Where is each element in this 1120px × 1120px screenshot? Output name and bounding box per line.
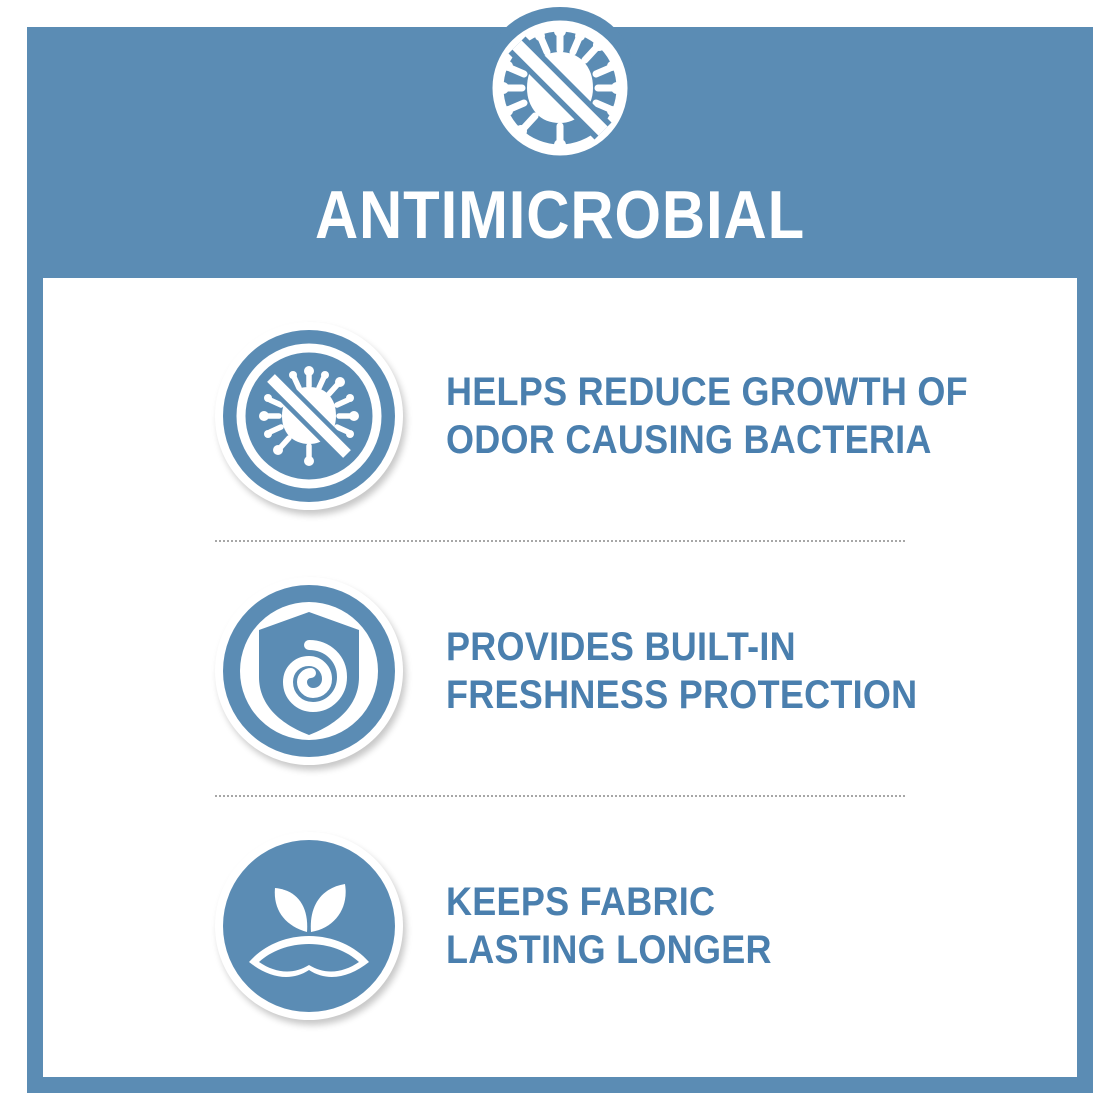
- feature-line: FRESHNESS PROTECTION: [446, 671, 1014, 719]
- antimicrobial-infographic: ANTIMICROBIAL: [0, 0, 1120, 1120]
- no-bacteria-icon: [488, 16, 632, 160]
- feature-text: KEEPS FABRIC LASTING LONGER: [446, 878, 1014, 974]
- feature-line: HELPS REDUCE GROWTH OF: [446, 368, 1014, 416]
- feature-line: PROVIDES BUILT-IN: [446, 623, 1014, 671]
- feature-line: ODOR CAUSING BACTERIA: [446, 416, 1014, 464]
- no-bacteria-badge-icon: [215, 322, 403, 510]
- leaf-sprout-badge-icon: [215, 832, 403, 1020]
- list-item: KEEPS FABRIC LASTING LONGER: [43, 818, 1077, 1033]
- feature-list: HELPS REDUCE GROWTH OF ODOR CAUSING BACT…: [43, 278, 1077, 1077]
- row-divider: [215, 540, 905, 542]
- row-divider: [215, 795, 905, 797]
- feature-line: LASTING LONGER: [446, 926, 1014, 974]
- shield-freshness-badge-icon: [215, 577, 403, 765]
- list-item: PROVIDES BUILT-IN FRESHNESS PROTECTION: [43, 563, 1077, 778]
- feature-line: KEEPS FABRIC: [446, 878, 1014, 926]
- feature-text: HELPS REDUCE GROWTH OF ODOR CAUSING BACT…: [446, 368, 1014, 464]
- feature-text: PROVIDES BUILT-IN FRESHNESS PROTECTION: [446, 623, 1014, 719]
- list-item: HELPS REDUCE GROWTH OF ODOR CAUSING BACT…: [43, 308, 1077, 523]
- page-title: ANTIMICROBIAL: [67, 178, 1053, 252]
